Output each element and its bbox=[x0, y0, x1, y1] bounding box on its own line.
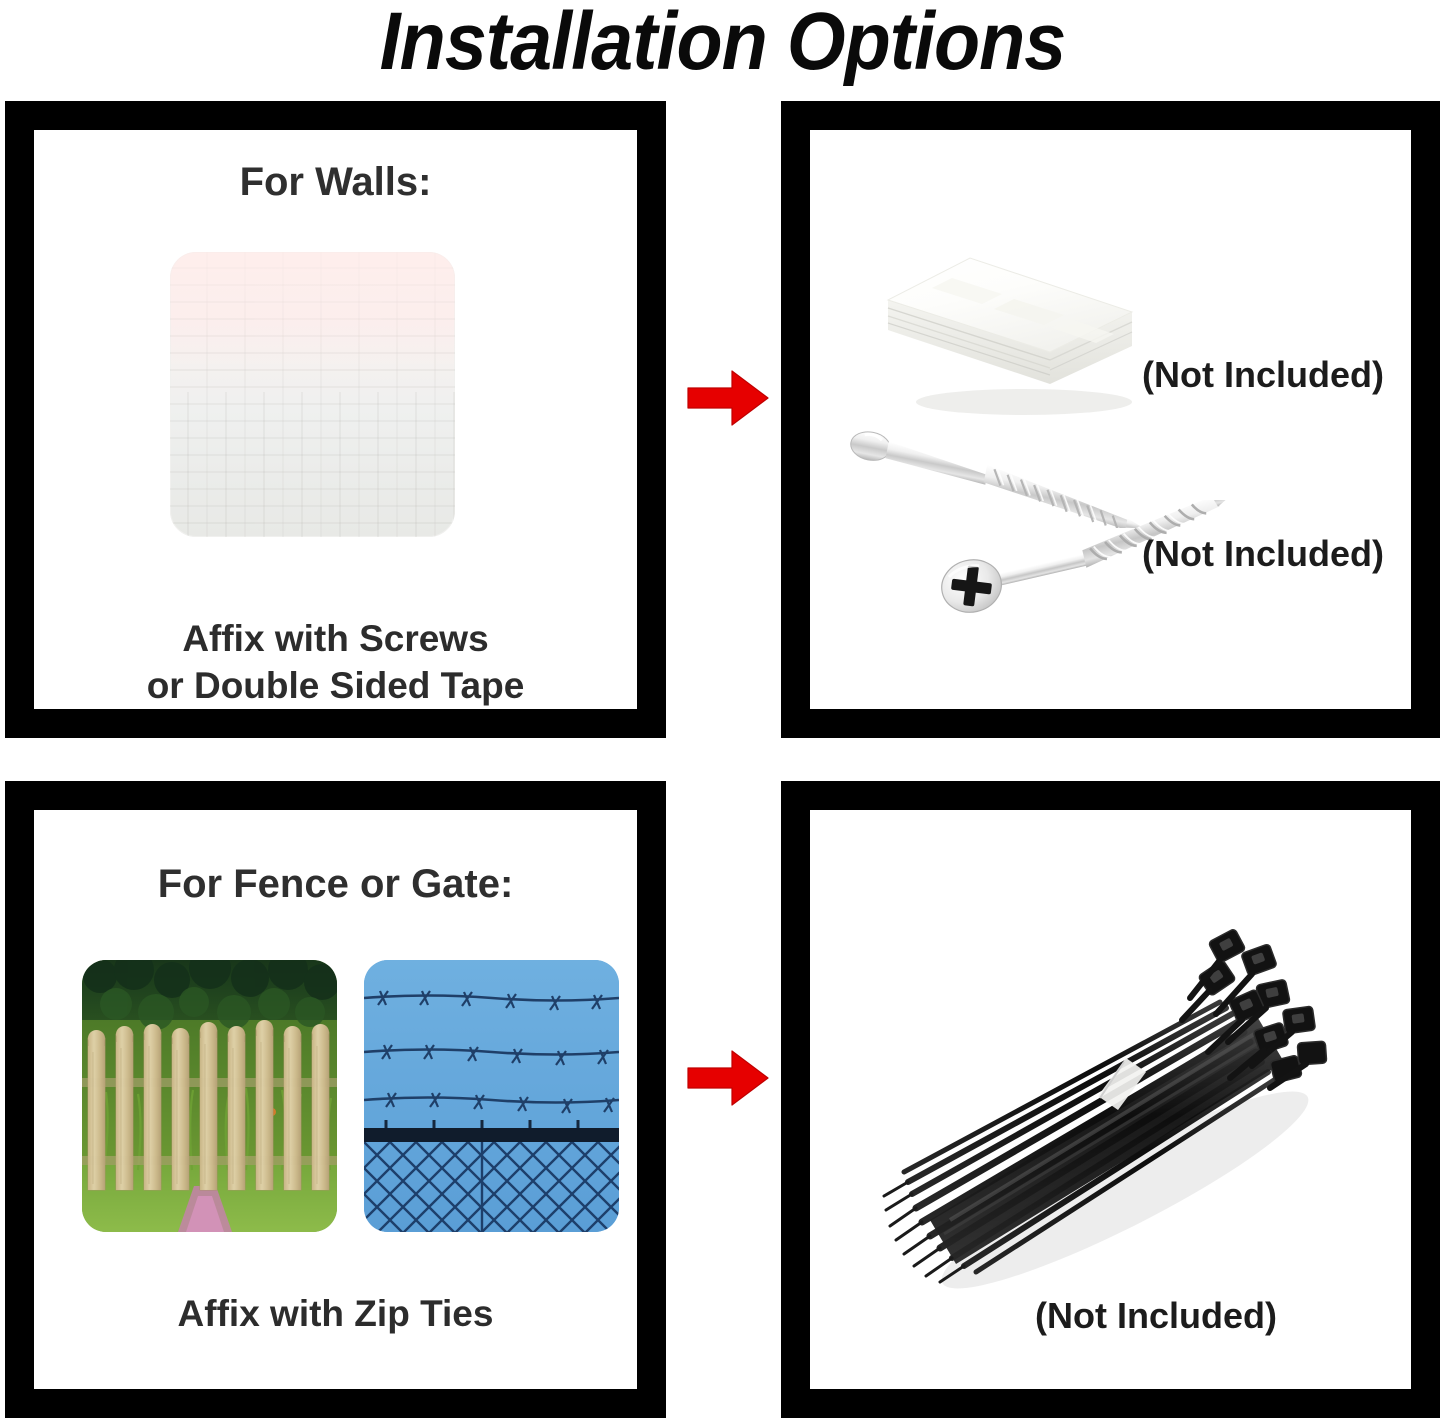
fence-heading: For Fence or Gate: bbox=[34, 860, 637, 908]
brick-top-wash bbox=[170, 252, 455, 372]
panel-zip-ties: (Not Included) bbox=[781, 781, 1440, 1418]
brick-courses-texture-lower bbox=[170, 392, 455, 537]
wooden-picket-fence-photo bbox=[82, 960, 337, 1232]
panel-hardware: (Not Included) bbox=[781, 101, 1440, 738]
double-sided-tape-stack-image bbox=[874, 234, 1146, 420]
red-right-arrow-icon bbox=[686, 1048, 770, 1108]
screw-not-included-label: (Not Included) bbox=[1142, 533, 1384, 575]
chain-link-fence-photo bbox=[364, 960, 619, 1232]
tape-not-included-label: (Not Included) bbox=[1142, 354, 1384, 396]
white-brick-wall-image bbox=[170, 252, 455, 537]
zipties-not-included-label: (Not Included) bbox=[1035, 1295, 1277, 1337]
red-right-arrow-icon bbox=[686, 368, 770, 428]
walls-caption: Affix with Screws or Double Sided Tape bbox=[34, 615, 637, 709]
walls-caption-line1: Affix with Screws bbox=[34, 615, 637, 662]
fence-caption: Affix with Zip Ties bbox=[34, 1290, 637, 1337]
panel-for-fence-or-gate: For Fence or Gate: bbox=[5, 781, 666, 1418]
page-title: Installation Options bbox=[58, 0, 1387, 88]
walls-heading: For Walls: bbox=[34, 158, 637, 206]
zip-ties-bundle-image bbox=[860, 890, 1380, 1290]
walls-caption-line2: or Double Sided Tape bbox=[34, 662, 637, 709]
panel-for-walls: For Walls: Affix with Screws or Double S… bbox=[5, 101, 666, 738]
